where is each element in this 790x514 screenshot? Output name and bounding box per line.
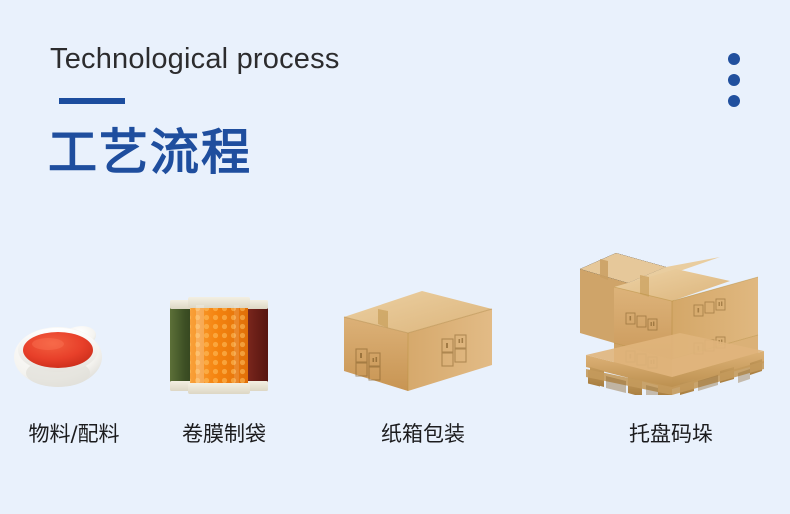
stage-bagging: 卷膜制袋 bbox=[150, 222, 298, 452]
stage-label-bagging: 卷膜制袋 bbox=[150, 418, 298, 448]
palletized-boxes-icon bbox=[552, 243, 752, 400]
stage-pallet: 托盘码垛 bbox=[552, 222, 790, 452]
process-infographic: Technological process 工艺流程 bbox=[0, 0, 790, 514]
stage-label-pallet: 托盘码垛 bbox=[552, 418, 790, 448]
page-title-chinese: 工艺流程 bbox=[48, 113, 252, 184]
stage-label-material: 物料/配料 bbox=[0, 418, 148, 448]
header: Technological process 工艺流程 bbox=[0, 0, 790, 200]
stage-carton: 纸箱包装 bbox=[318, 222, 528, 452]
dot-2 bbox=[728, 74, 740, 86]
dot-3 bbox=[728, 95, 740, 107]
stage-material: 物料/配料 bbox=[0, 222, 148, 452]
dot-1 bbox=[728, 53, 740, 65]
process-flow: 物料/配料 bbox=[0, 222, 790, 452]
stage-label-carton: 纸箱包装 bbox=[318, 418, 528, 448]
film-sachet-pack-icon bbox=[150, 295, 256, 400]
three-dots-icon[interactable] bbox=[728, 53, 740, 107]
page-title-english: Technological process bbox=[50, 43, 340, 76]
title-divider bbox=[59, 98, 125, 104]
sauce-bowl-icon bbox=[0, 321, 96, 400]
cardboard-box-icon bbox=[318, 287, 478, 400]
